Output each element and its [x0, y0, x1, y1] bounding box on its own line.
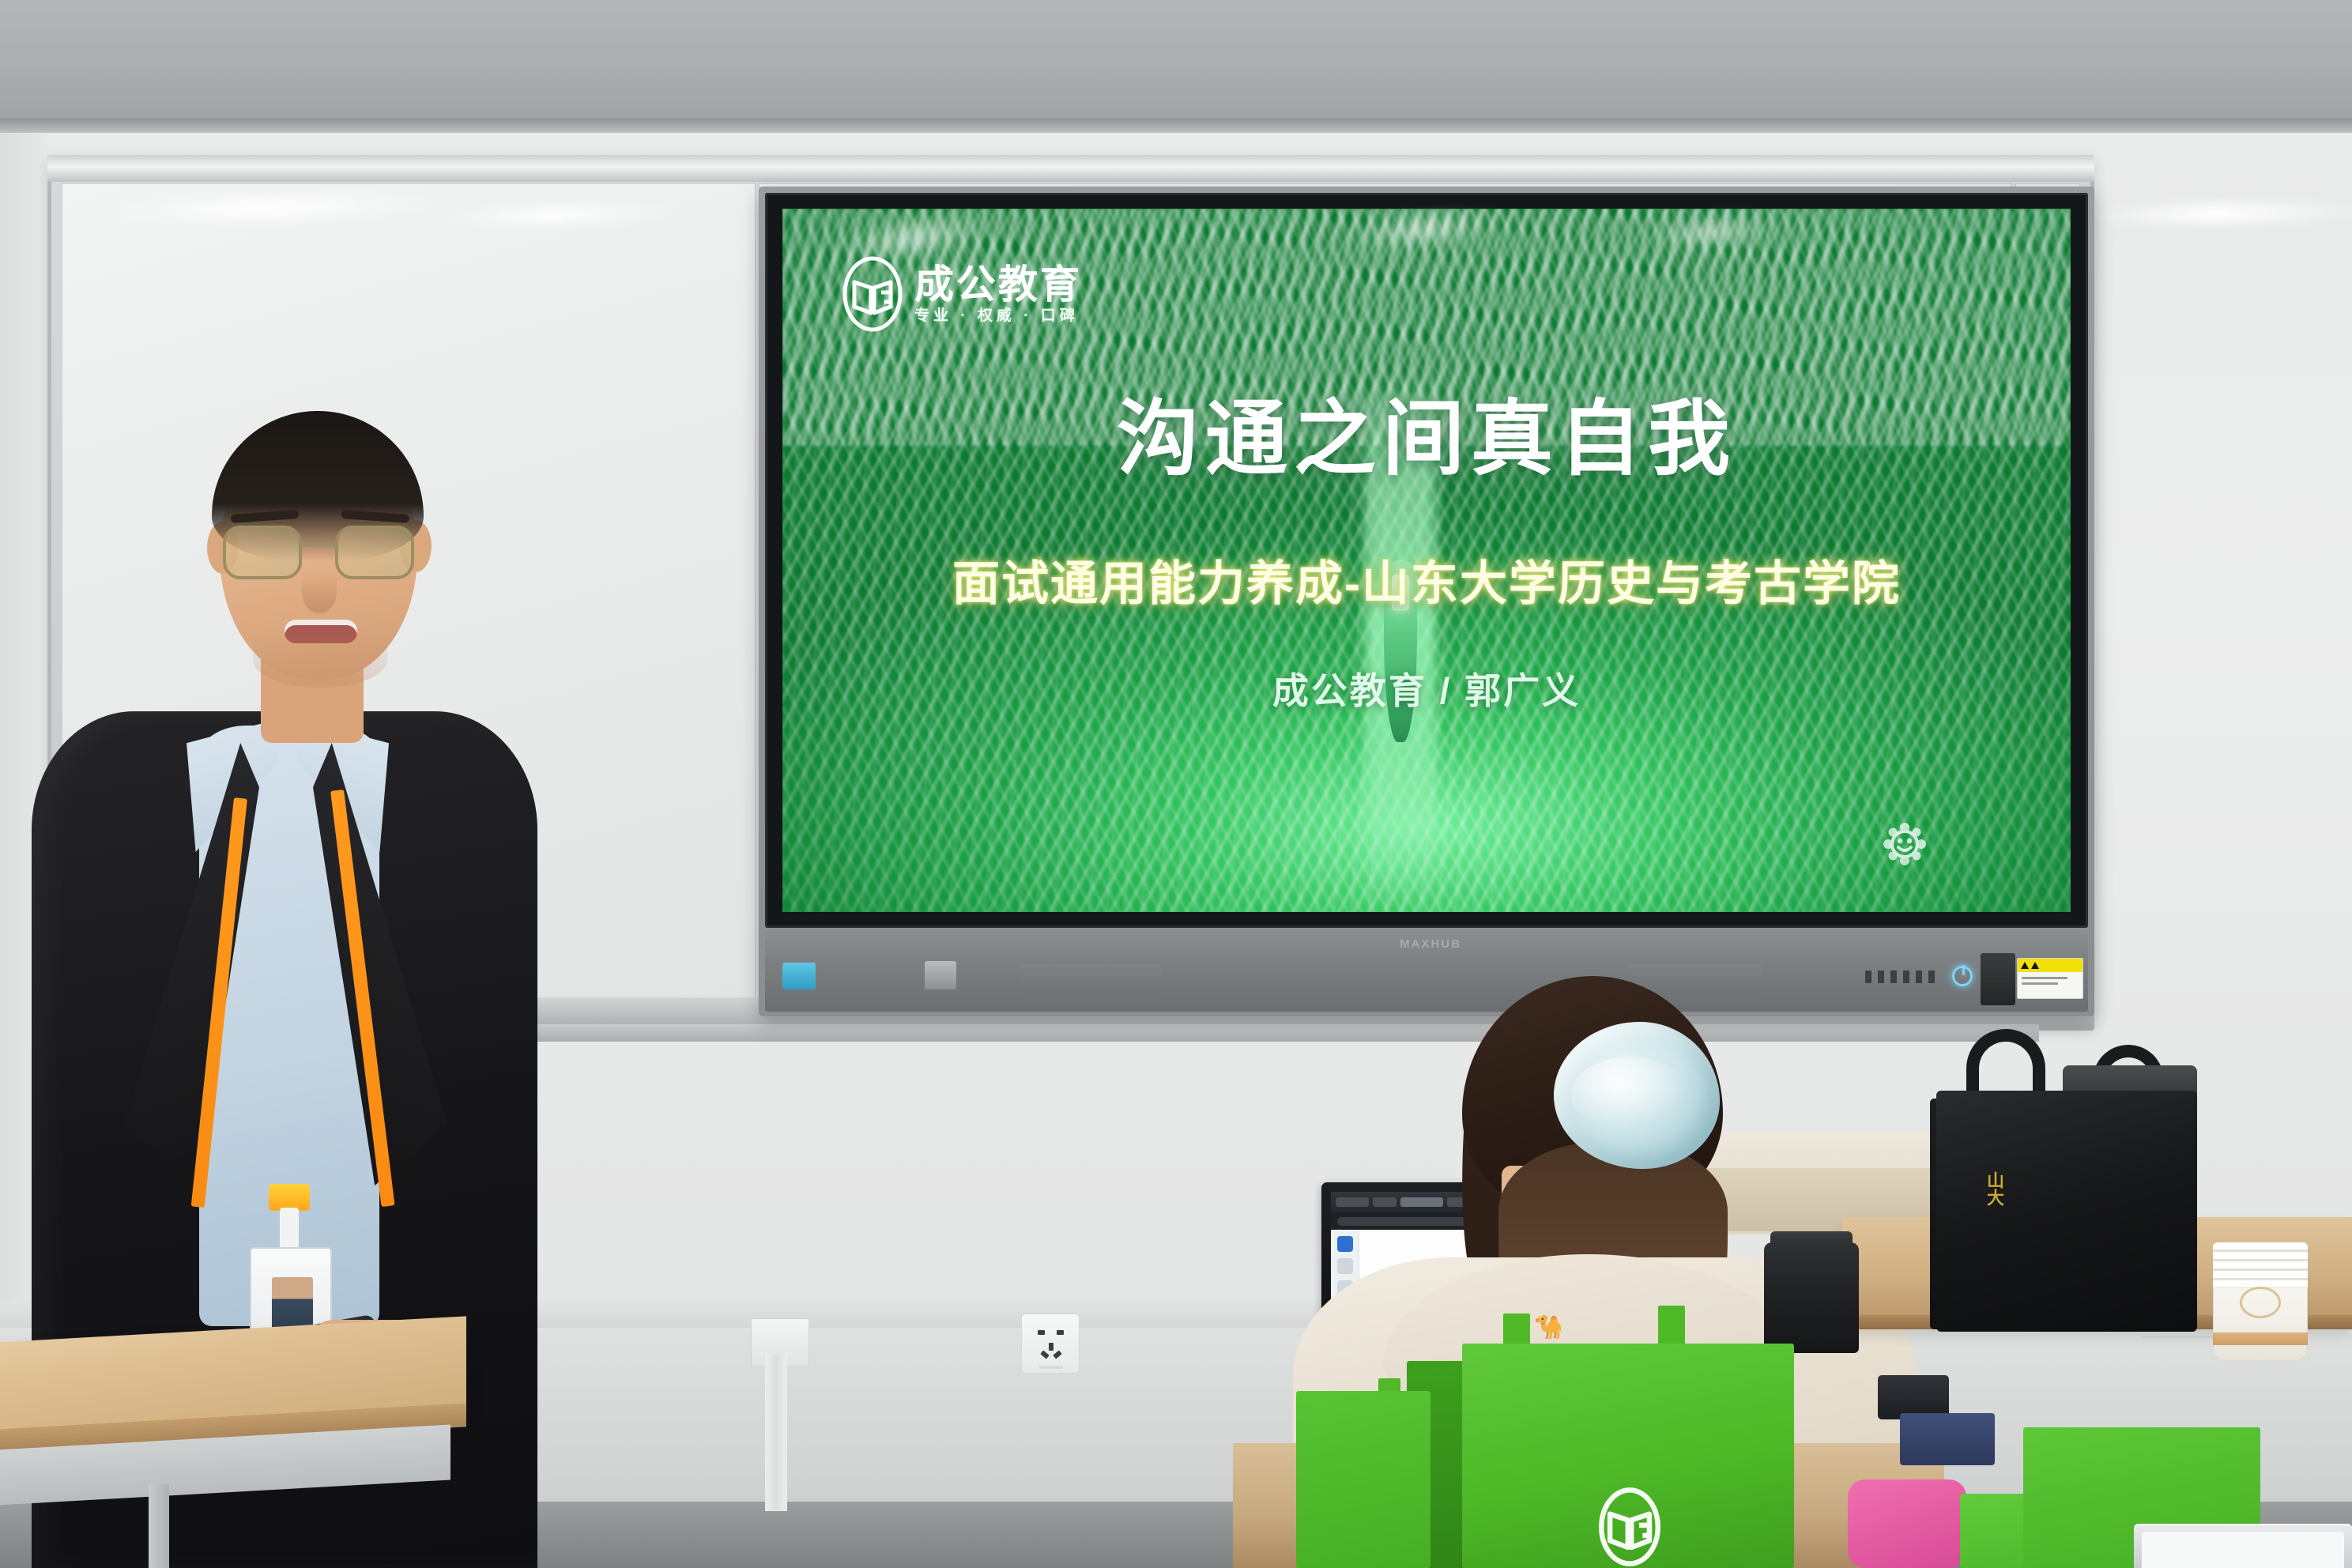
open-book-circle-logo-icon: [842, 256, 903, 332]
power-socket[interactable]: [1021, 1314, 1080, 1374]
pink-pouch[interactable]: [1848, 1479, 1966, 1568]
black-tote-logo: 山大: [1969, 1171, 2003, 1222]
green-tote-bag[interactable]: [1296, 1391, 1430, 1568]
cable-conduit-pipe: [765, 1353, 787, 1511]
front-desk-leg: [149, 1484, 169, 1568]
slide-brand-tagline: 专业 · 权威 · 口碑: [914, 308, 1082, 323]
camel-icon: 🐪: [1478, 1316, 1620, 1340]
blue-folder[interactable]: [1900, 1413, 1995, 1465]
presenter-chin: [253, 632, 387, 688]
presenter-nose: [302, 571, 337, 613]
display-button-gray[interactable]: [925, 961, 956, 989]
hair-scrunchie: [1554, 1022, 1720, 1169]
thermos-bottle[interactable]: [1764, 1242, 1859, 1353]
open-book-circle-logo-icon: [1589, 1486, 1671, 1568]
presenter-lanyard-knot: [269, 1184, 310, 1211]
slide-title: 沟通之间真自我: [782, 371, 2071, 491]
paper-cup-logo: [2240, 1287, 2281, 1318]
slide-brand-logo: 成公教育 专业 · 权威 · 口碑: [842, 256, 1082, 332]
slide-presenter-credit: 成公教育 / 郭广义: [782, 662, 2071, 714]
slide-brand-name: 成公教育: [914, 265, 1082, 304]
slide-subtitle: 面试通用能力养成-山东大学历史与考古学院: [782, 545, 2071, 614]
display-speaker-grille-left: [1020, 964, 1162, 996]
classroom-scene: 成公教育 专业 · 权威 · 口碑 沟通之间真自我 面试通用能力养成-山东大学历…: [0, 0, 2352, 1568]
smiley-flower-watermark-icon: [1883, 822, 1927, 866]
tablet-device[interactable]: [2134, 1524, 2352, 1568]
display-side-port-cover[interactable]: [1981, 953, 2015, 1005]
display-brand-label: MAXHUB: [1328, 937, 1533, 951]
power-icon[interactable]: [1952, 966, 1973, 986]
paper-cup-band: [2213, 1332, 2308, 1345]
display-button-blue[interactable]: [782, 963, 816, 989]
presenter-lanyard-clip: [280, 1208, 299, 1250]
whiteboard-top-rail: [47, 155, 2094, 182]
ceiling: [0, 0, 2352, 126]
wall-scuff-mark: [2142, 1336, 2213, 1338]
warning-triangle-icon: [2017, 958, 2083, 999]
